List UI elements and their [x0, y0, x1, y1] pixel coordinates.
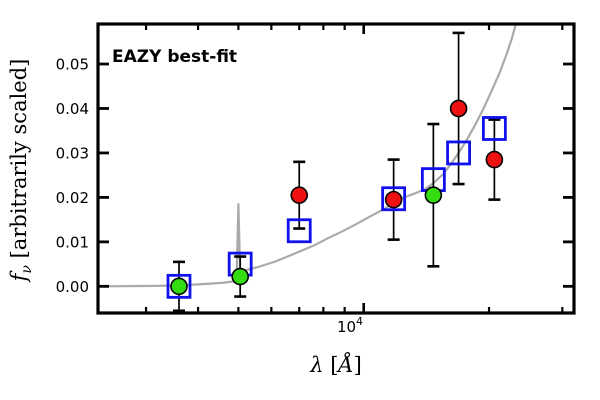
- observed-photometry-point: [425, 187, 441, 203]
- y-axis-tick-label: 0.00: [56, 278, 89, 296]
- observed-photometry-point: [171, 278, 187, 294]
- observed-photometry-point: [486, 152, 502, 168]
- y-axis-tick-labels: 0.000.010.020.030.040.05: [56, 56, 89, 296]
- observed-photometry-point: [451, 100, 467, 116]
- figure-canvas: 0.000.010.020.030.040.05 104 λ [Å] fν [a…: [0, 0, 600, 400]
- y-axis-tick-label: 0.01: [56, 233, 89, 251]
- observed-photometry-point: [386, 192, 402, 208]
- sed-plot: 0.000.010.020.030.040.05 104 λ [Å] fν [a…: [0, 0, 600, 400]
- observed-photometry-point: [291, 187, 307, 203]
- annotation-eazy-best-fit: EAZY best-fit: [112, 47, 237, 67]
- y-axis-label: fν [arbitrarily scaled]: [7, 59, 35, 284]
- y-axis-tick-label: 0.04: [56, 100, 89, 118]
- x-axis-tick-label-1e4: 104: [337, 315, 363, 336]
- observed-photometry-point: [232, 269, 248, 285]
- y-axis-tick-label: 0.05: [56, 56, 89, 74]
- y-axis-tick-label: 0.03: [56, 144, 89, 162]
- y-axis-tick-label: 0.02: [56, 189, 89, 207]
- x-axis-label: λ [Å]: [309, 352, 362, 377]
